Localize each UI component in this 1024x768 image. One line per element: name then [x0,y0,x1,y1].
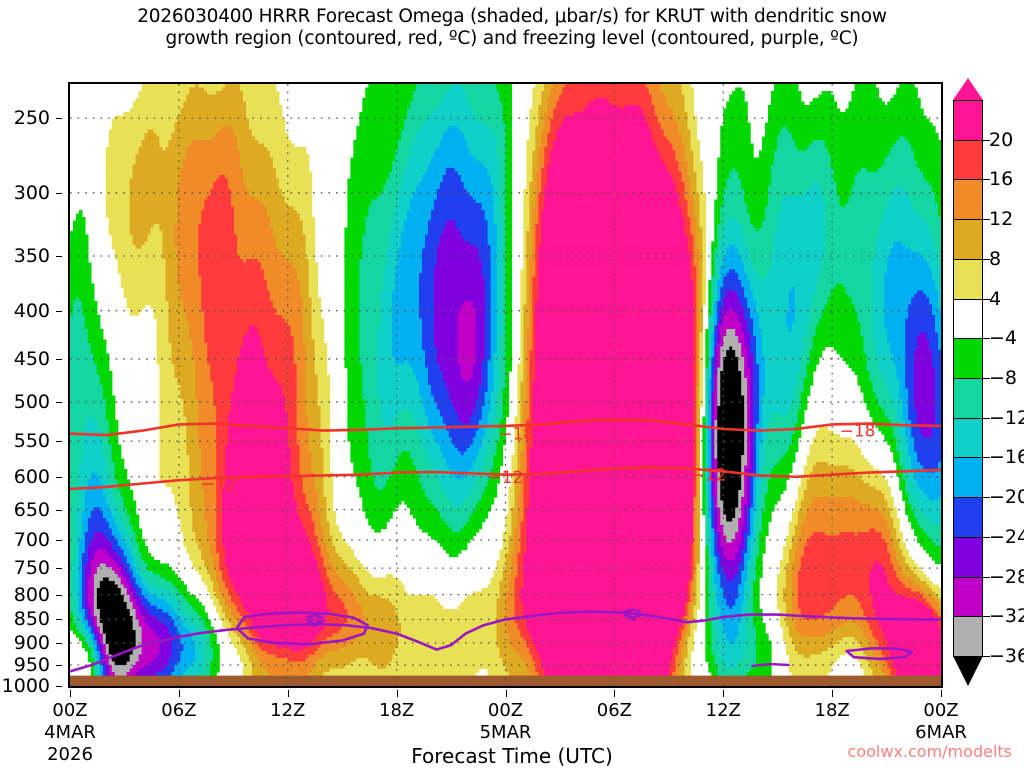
colorbar-segment [953,577,983,618]
x-axis-tick-label: 06Z [597,700,632,721]
colorbar-tick [983,219,990,220]
x-axis-tick-label: 12Z [706,700,741,721]
x-axis-tick [397,690,398,697]
colorbar-tick [983,616,990,617]
y-axis-tick-label: 600 [14,466,50,488]
y-axis-tick [56,568,62,569]
y-axis-tick [56,665,62,666]
y-axis-tick [56,311,62,312]
y-axis-tick-label: 300 [14,182,50,204]
chart-root: 2026030400 HRRR Forecast Omega (shaded, … [0,0,1024,768]
y-axis-tick-label: 750 [14,557,50,579]
contour-overlay: −18−18−12−12−1200 [70,84,941,686]
colorbar-segment [953,179,983,220]
y-axis-tick-label: 350 [14,245,50,267]
y-axis-tick [56,193,62,194]
colorbar-tick [983,457,990,458]
contour-label-minus12-c: −12 [691,466,727,486]
x-axis-tick-label: 06Z [161,700,196,721]
x-axis-tick-label: 12Z [270,700,305,721]
colorbar-tick [983,140,990,141]
colorbar-label: −28 [989,566,1024,588]
chart-title-line1: 2026030400 HRRR Forecast Omega (shaded, … [137,6,887,27]
colorbar-segment [953,378,983,419]
y-axis-tick-label: 400 [14,300,50,322]
colorbar-tick [983,577,990,578]
y-axis-tick-label: 550 [14,430,50,452]
watermark: coolwx.com/modelts [848,742,1012,761]
y-axis-tick [56,540,62,541]
colorbar-label: 8 [989,248,1001,270]
y-axis-tick-label: 1000 [2,675,50,697]
colorbar-label: 4 [989,288,1001,310]
colorbar-label: −16 [989,446,1024,468]
colorbar-label: −32 [989,605,1024,627]
colorbar-tick [983,378,990,379]
y-axis-tick-label: 650 [14,499,50,521]
contour-label-zero-a: 0 [310,612,321,632]
chart-title: 2026030400 HRRR Forecast Omega (shaded, … [0,6,1024,50]
contour-label-minus12-b: −12 [488,468,524,488]
plot-area: −18−18−12−12−1200 [68,82,943,688]
colorbar-segment [953,140,983,181]
colorbar-label: −4 [989,327,1017,349]
x-axis-tick-label: 00Z [52,700,87,721]
y-axis-tick [56,619,62,620]
colorbar-segment [953,219,983,260]
colorbar-tick [983,299,990,300]
y-axis-tick [56,359,62,360]
y-axis-tick [56,595,62,596]
y-axis-tick [56,643,62,644]
y-axis-tick-label: 900 [14,632,50,654]
colorbar-tick [983,338,990,339]
colorbar: 20161284−4−8−12−16−20−24−28−32−36 [953,100,983,656]
x-axis-tick [179,690,180,697]
colorbar-segment [953,338,983,379]
colorbar-tick [983,418,990,419]
contour-label-zero-b: 0 [627,606,638,626]
y-axis-tick [56,441,62,442]
x-axis-tick [70,690,71,697]
y-axis-tick-label: 250 [14,107,50,129]
y-axis-tick-label: 450 [14,348,50,370]
y-axis-tick-label: 800 [14,584,50,606]
colorbar-arrow-up-icon [953,78,983,100]
x-axis-day-label: 5MAR [480,722,532,743]
contour-label-minus18-b: −18 [840,422,876,442]
colorbar-label: 16 [989,168,1013,190]
y-axis-tick [56,477,62,478]
x-axis-tick-label: 00Z [923,700,958,721]
freezing-level-contour [70,612,941,672]
x-axis-tick [941,690,942,697]
colorbar-tick [983,537,990,538]
colorbar-segment [953,616,983,657]
y-axis-tick-label: 500 [14,391,50,413]
y-axis-tick-label: 950 [14,654,50,676]
freezing-level-segment [752,664,788,666]
colorbar-label: −12 [989,407,1024,429]
colorbar-segment [953,537,983,578]
x-axis-day-label: 4MAR [44,722,96,743]
colorbar-segment [953,100,983,141]
x-axis-tick-label: 00Z [488,700,523,721]
x-axis-day-label: 6MAR [915,722,967,743]
contour-label-minus18: −18 [498,425,534,445]
y-axis-tick-label: 700 [14,529,50,551]
colorbar-tick [983,179,990,180]
y-axis-tick [56,118,62,119]
colorbar-tick [983,656,990,657]
x-axis-tick-label: 18Z [379,700,414,721]
colorbar-label: −8 [989,367,1017,389]
y-axis-tick [56,256,62,257]
y-axis-tick [56,686,62,687]
x-axis-tick [723,690,724,697]
y-axis-tick-label: 850 [14,608,50,630]
colorbar-label: −20 [989,486,1024,508]
y-axis: 2503003504004505005506006507007508008509… [0,82,62,688]
colorbar-label: −24 [989,526,1024,548]
colorbar-segment [953,299,983,340]
x-axis-tick [832,690,833,697]
colorbar-arrow-down-icon [953,656,983,686]
x-axis-tick [288,690,289,697]
y-axis-tick [56,402,62,403]
colorbar-tick [983,259,990,260]
colorbar-label: 12 [989,208,1013,230]
contour-label-minus12-a: −12 [201,475,237,495]
x-axis-tick-label: 18Z [815,700,850,721]
chart-title-line2: growth region (contoured, red, ºC) and f… [0,28,1024,50]
colorbar-segment [953,497,983,538]
colorbar-segment [953,259,983,300]
colorbar-label: −36 [989,645,1024,667]
x-axis-tick [614,690,615,697]
x-axis-tick [506,690,507,697]
colorbar-segment [953,457,983,498]
y-axis-tick [56,510,62,511]
plot-canvas: −18−18−12−12−1200 [70,84,941,686]
colorbar-segment [953,418,983,459]
colorbar-label: 20 [989,129,1013,151]
colorbar-tick [983,497,990,498]
freezing-level-pocket-2 [847,648,912,659]
